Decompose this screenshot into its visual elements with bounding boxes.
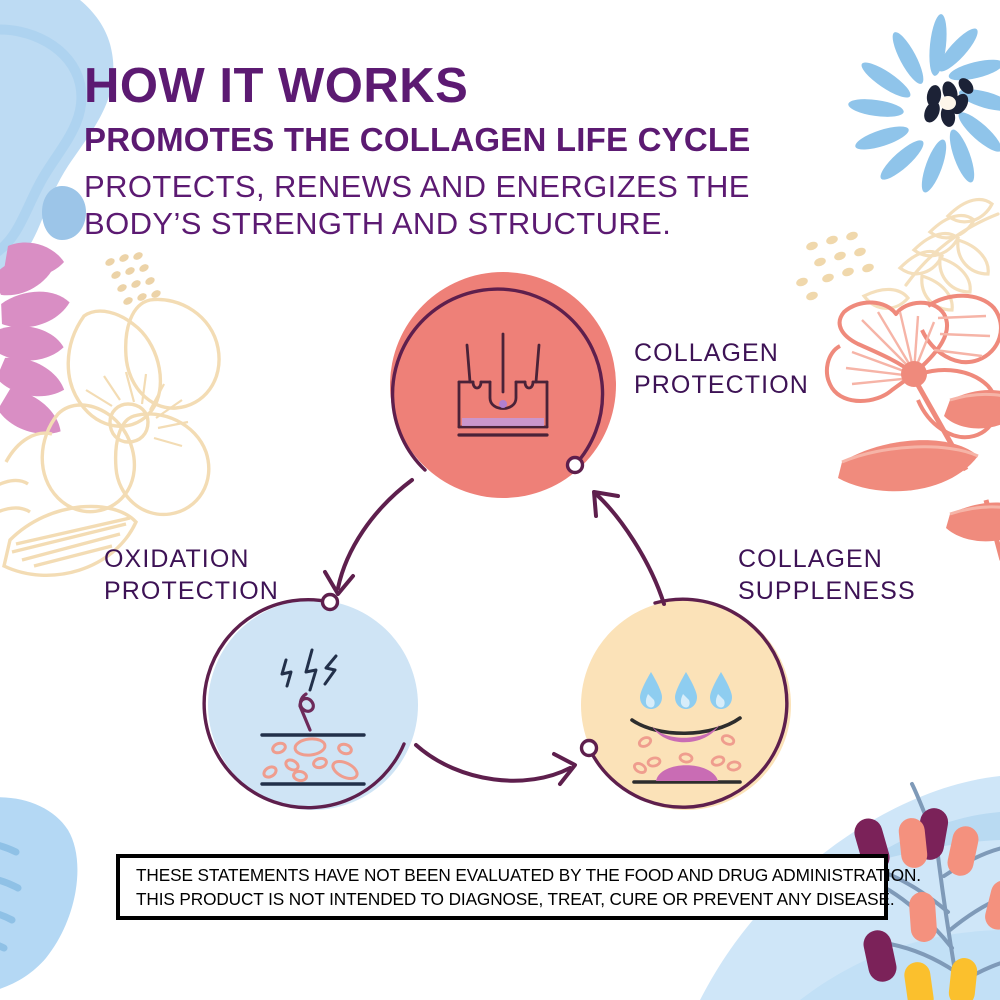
cycle-node-collagen-suppleness[interactable] [556, 599, 791, 810]
label-line-2: PROTECTION [634, 370, 809, 402]
label-line-2: SUPPLENESS [738, 576, 916, 608]
disclaimer-line-2: THIS PRODUCT IS NOT INTENDED TO DIAGNOSE… [136, 887, 884, 911]
follicle-bulb [499, 400, 507, 408]
label-collagen-protection: COLLAGEN PROTECTION [634, 338, 809, 401]
label-oxidation-protection: OXIDATION PROTECTION [104, 544, 279, 607]
label-line-1: COLLAGEN [634, 338, 809, 370]
cycle-node-oxidation-protection[interactable] [204, 595, 450, 817]
label-line-1: COLLAGEN [738, 544, 916, 576]
infographic-canvas: HOW IT WORKS PROMOTES THE COLLAGEN LIFE … [0, 0, 1000, 1000]
arrow-oxidation-to-suppleness [416, 745, 575, 784]
label-line-1: OXIDATION [104, 544, 279, 576]
node-ring-endpoint [582, 741, 597, 756]
collagen-layer-band [462, 418, 544, 426]
heading-block: HOW IT WORKS PROMOTES THE COLLAGEN LIFE … [84, 62, 884, 243]
body-line-1: PROTECTS, RENEWS AND ENERGIZES THE [84, 168, 884, 206]
page-body-text: PROTECTS, RENEWS AND ENERGIZES THE BODY’… [84, 168, 884, 244]
node-ring-endpoint [323, 595, 338, 610]
page-title: HOW IT WORKS [84, 62, 884, 112]
disclaimer-line-1: THESE STATEMENTS HAVE NOT BEEN EVALUATED… [136, 863, 884, 887]
label-line-2: PROTECTION [104, 576, 279, 608]
node-ring-endpoint [568, 458, 583, 473]
water-droplets [640, 672, 732, 709]
cycle-node-collagen-protection[interactable] [390, 272, 616, 522]
arrow-suppleness-to-protection [594, 492, 664, 604]
body-line-2: BODY’S STRENGTH AND STRUCTURE. [84, 205, 884, 243]
arrow-protection-to-oxidation [325, 480, 412, 594]
page-subtitle: PROMOTES THE COLLAGEN LIFE CYCLE [84, 122, 884, 158]
fda-disclaimer-box: THESE STATEMENTS HAVE NOT BEEN EVALUATED… [116, 854, 888, 920]
label-collagen-suppleness: COLLAGEN SUPPLENESS [738, 544, 916, 607]
